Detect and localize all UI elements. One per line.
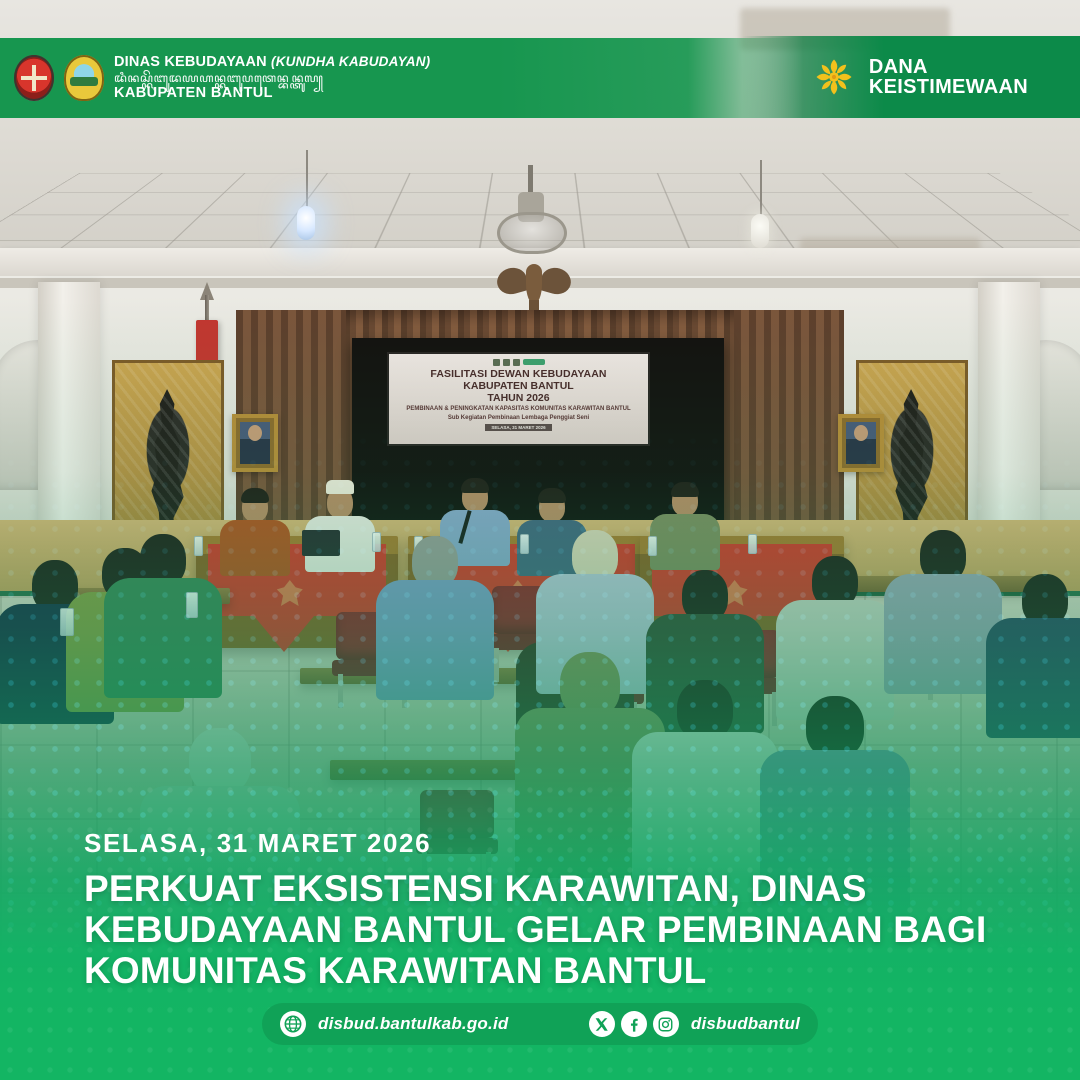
dana-keistimewaan-logo-icon (813, 56, 855, 98)
agency-name: DINAS KEBUDAYAAN (114, 54, 267, 70)
lamp-wire (306, 150, 308, 208)
headline-line-2: KEBUDAYAAN BANTUL GELAR PEMBINAAN BAGI (84, 909, 984, 950)
headline: PERKUAT EKSISTENSI KARAWITAN, DINAS KEBU… (84, 868, 984, 991)
bantul-emblem-icon (64, 55, 104, 101)
website-url[interactable]: disbud.bantulkab.go.id (318, 1014, 508, 1034)
dana-line-2: KEISTIMEWAAN (869, 77, 1028, 97)
facebook-icon[interactable] (621, 1011, 647, 1037)
social-links: disbudbantul (589, 1011, 800, 1037)
hanging-lamp (297, 206, 315, 240)
globe-icon[interactable] (280, 1011, 306, 1037)
headline-line-3: KOMUNITAS KARAWITAN BANTUL (84, 950, 984, 991)
hanging-lamp (751, 214, 769, 248)
header-bar-left: DINAS KEBUDAYAAN (KUNDHA KABUDAYAN) ꦢꦶꦤꦱ… (0, 38, 800, 118)
agency-name-javanese-script: ꦢꦶꦤꦱ꧀ꦏꦼꦧꦸꦢꦪꦲꦤ꧀ꦏꦧꦸꦥꦠꦺꦤ꧀ꦧꦤ꧀ꦠꦸꦭ꧀ (114, 72, 430, 85)
ceiling-fan (497, 212, 567, 254)
regency-name: KABUPATEN BANTUL (114, 86, 430, 101)
lamp-wire (760, 160, 762, 216)
event-date: SELASA, 31 MARET 2026 (84, 828, 431, 859)
footer-contact-bar: disbud.bantulkab.go.id disbudbantul (262, 1003, 818, 1045)
header-bar-right: DANA KEISTIMEWAAN (742, 36, 1080, 118)
agency-name-row: DINAS KEBUDAYAAN (KUNDHA KABUDAYAN) (114, 55, 430, 70)
instagram-icon[interactable] (653, 1011, 679, 1037)
agency-name-javanese-latin: (KUNDHA KABUDAYAN) (271, 54, 430, 69)
x-twitter-icon[interactable] (589, 1011, 615, 1037)
yogyakarta-emblem-icon (14, 55, 54, 101)
headline-line-1: PERKUAT EKSISTENSI KARAWITAN, DINAS (84, 868, 984, 909)
social-handle[interactable]: disbudbantul (691, 1014, 800, 1034)
dana-line-1: DANA (869, 57, 1028, 77)
header-agency-text: DINAS KEBUDAYAAN (KUNDHA KABUDAYAN) ꦢꦶꦤꦱ… (114, 55, 430, 101)
dana-keistimewaan-text: DANA KEISTIMEWAAN (869, 57, 1028, 97)
social-media-poster: FASILITASI DEWAN KEBUDAYAAN KABUPATEN BA… (0, 0, 1080, 1080)
